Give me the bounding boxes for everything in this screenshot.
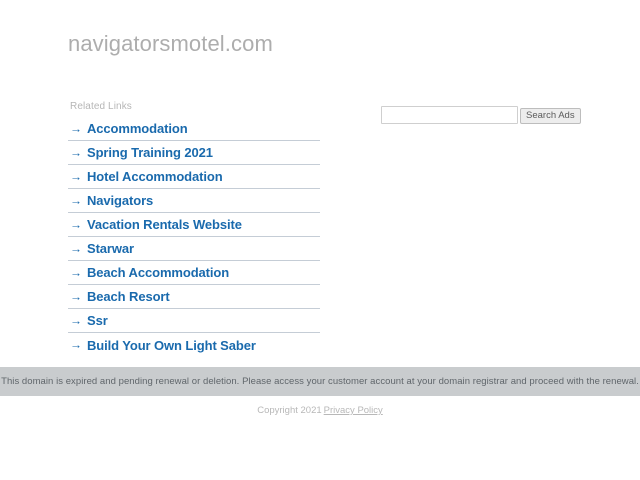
related-link-item[interactable]: → Navigators xyxy=(68,189,320,213)
arrow-right-icon: → xyxy=(70,339,82,351)
arrow-right-icon: → xyxy=(70,266,82,278)
arrow-right-icon: → xyxy=(70,146,82,158)
expiry-notice-banner: This domain is expired and pending renew… xyxy=(0,367,640,396)
related-link-item[interactable]: → Accommodation xyxy=(68,117,320,141)
copyright-text: Copyright 2021 xyxy=(257,405,321,416)
arrow-right-icon: → xyxy=(70,170,82,182)
arrow-right-icon: → xyxy=(70,314,82,326)
arrow-right-icon: → xyxy=(70,242,82,254)
related-link-label: Spring Training 2021 xyxy=(87,145,213,160)
arrow-right-icon: → xyxy=(70,194,82,206)
related-links-heading: Related Links xyxy=(70,101,320,112)
related-link-item[interactable]: → Vacation Rentals Website xyxy=(68,213,320,237)
arrow-right-icon: → xyxy=(70,290,82,302)
related-link-item[interactable]: → Spring Training 2021 xyxy=(68,141,320,165)
related-link-label: Build Your Own Light Saber xyxy=(87,338,256,353)
search-ads-form: Search Ads xyxy=(381,106,581,124)
related-link-label: Navigators xyxy=(87,193,153,208)
related-link-item[interactable]: → Ssr xyxy=(68,309,320,333)
related-link-item[interactable]: → Hotel Accommodation xyxy=(68,165,320,189)
arrow-right-icon: → xyxy=(70,122,82,134)
related-link-label: Accommodation xyxy=(87,121,188,136)
related-links-section: Related Links → Accommodation → Spring T… xyxy=(68,101,320,357)
search-ads-button[interactable]: Search Ads xyxy=(520,108,581,124)
privacy-policy-link[interactable]: Privacy Policy xyxy=(324,405,383,416)
related-link-label: Starwar xyxy=(87,241,134,256)
related-link-label: Beach Accommodation xyxy=(87,265,229,280)
expiry-notice-text: This domain is expired and pending renew… xyxy=(1,376,639,387)
related-link-item[interactable]: → Starwar xyxy=(68,237,320,261)
page-title: navigatorsmotel.com xyxy=(68,31,273,57)
related-link-item[interactable]: → Beach Accommodation xyxy=(68,261,320,285)
related-link-label: Hotel Accommodation xyxy=(87,169,223,184)
search-input[interactable] xyxy=(381,106,518,124)
related-link-item[interactable]: → Build Your Own Light Saber xyxy=(68,333,320,357)
related-link-label: Beach Resort xyxy=(87,289,170,304)
related-link-label: Vacation Rentals Website xyxy=(87,217,242,232)
footer: Copyright 2021Privacy Policy xyxy=(0,405,640,416)
related-link-label: Ssr xyxy=(87,313,108,328)
arrow-right-icon: → xyxy=(70,218,82,230)
related-link-item[interactable]: → Beach Resort xyxy=(68,285,320,309)
